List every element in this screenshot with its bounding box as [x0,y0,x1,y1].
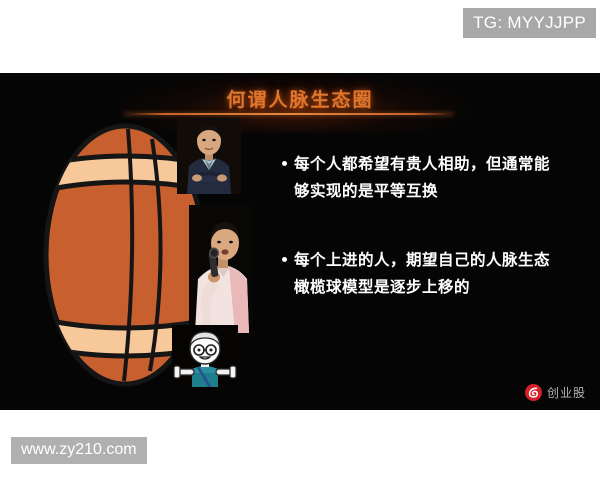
bullet-dot-icon [282,257,287,262]
bullet-item: 每个上进的人，期望自己的人脉生态橄榄球模型是逐步上移的 [282,247,562,301]
bullet-item: 每个人都希望有贵人相助，但通常能够实现的是平等互换 [282,151,562,205]
bullet-text: 每个上进的人，期望自己的人脉生态橄榄球模型是逐步上移的 [294,247,562,301]
figure-speaker-with-microphone [189,205,253,333]
bottom-white-band: www.zy210.com [0,410,600,480]
bullet-text: 每个人都希望有贵人相助，但通常能够实现的是平等互换 [294,151,562,205]
figure-cartoon-character [172,325,238,387]
figure-speaker-dark-suit [177,118,241,194]
tg-handle-badge: TG: MYYJJPP [463,8,596,38]
bullet-dot-icon [282,161,287,166]
slide-title: 何谓人脉生态圈 [0,85,600,112]
bullet-list: 每个人都希望有贵人相助，但通常能够实现的是平等互换 每个上进的人，期望自己的人脉… [282,151,562,343]
title-divider-rule [124,113,454,115]
brand-name: 创业股 [547,384,586,401]
presentation-slide: 何谓人脉生态圈 [0,73,600,410]
site-watermark: www.zy210.com [11,437,147,464]
top-white-band: TG: MYYJJPP [0,0,600,73]
brand-mark-icon [525,384,542,401]
brand-logo: 创业股 [525,384,586,401]
